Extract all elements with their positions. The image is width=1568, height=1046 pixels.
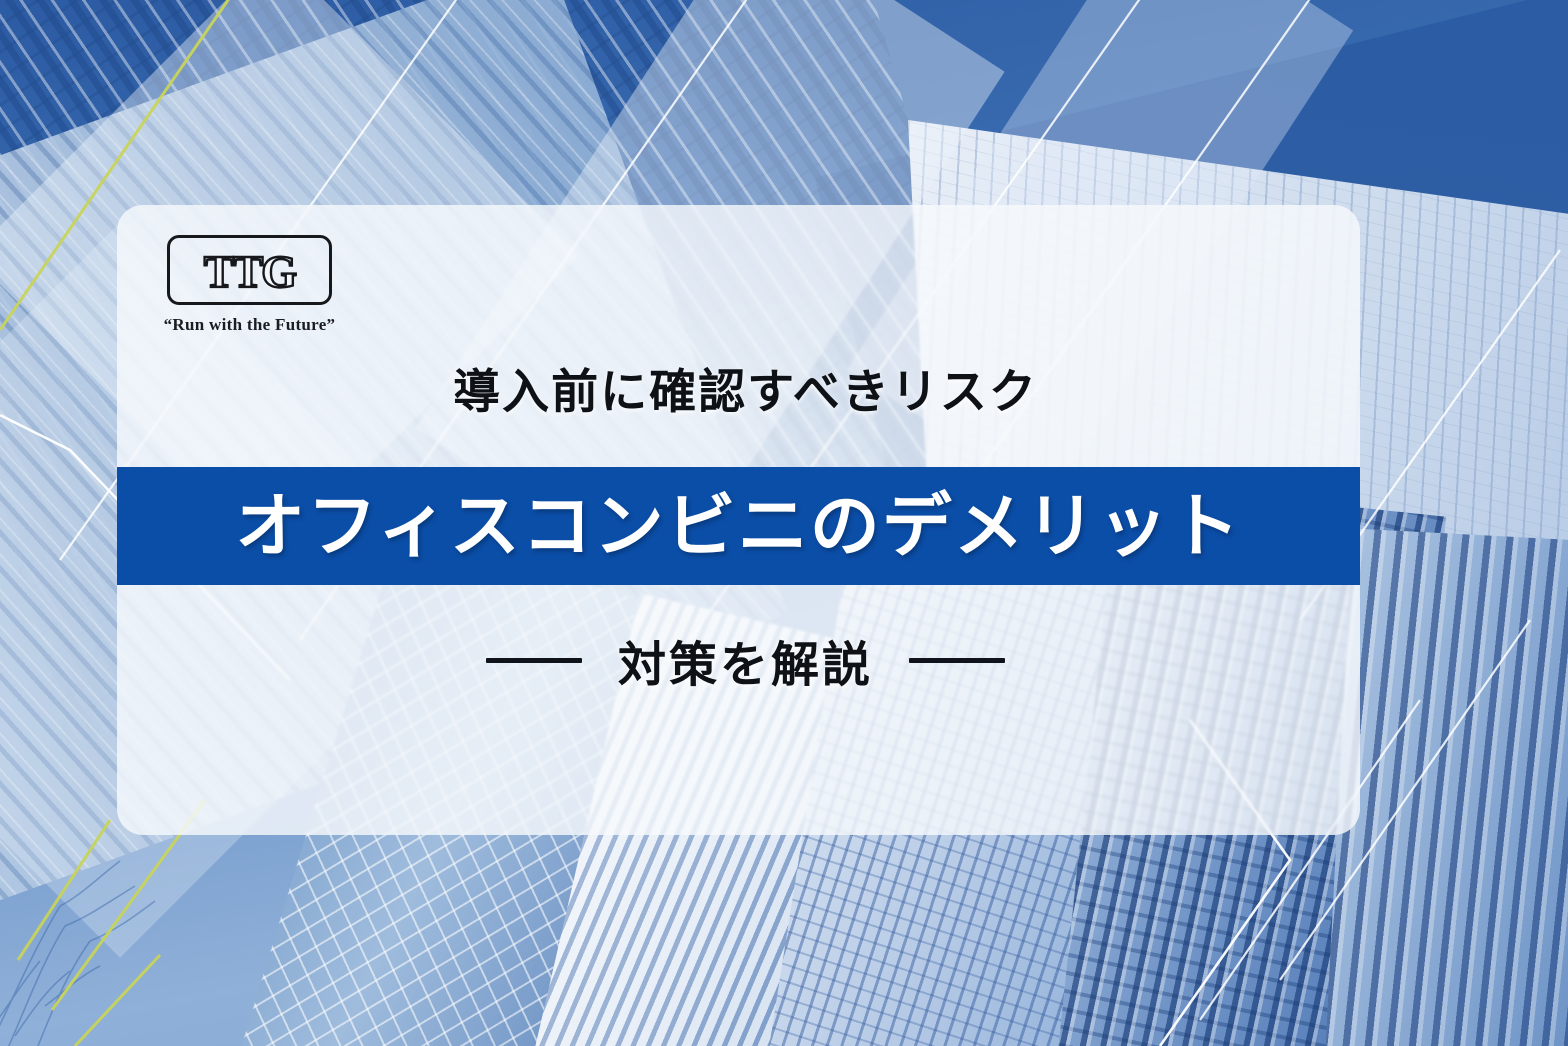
rule-left-icon [486, 658, 582, 663]
footer-row: 対策を解説 [117, 625, 1360, 695]
logo-tagline: “Run with the Future” [162, 315, 337, 335]
poster-canvas: TTG “Run with the Future” 導入前に確認すべきリスク オ… [0, 0, 1568, 1046]
content-card: TTG “Run with the Future” 導入前に確認すべきリスク オ… [117, 205, 1360, 835]
logo-outline-box: TTG [167, 235, 332, 305]
footer-text: 対策を解説 [618, 625, 873, 695]
logo-text: TTG [204, 249, 295, 295]
card-subtitle: 導入前に確認すべきリスク [117, 353, 1360, 422]
rule-right-icon [909, 658, 1005, 663]
title-banner: オフィスコンビニのデメリット [117, 467, 1360, 585]
brand-logo[interactable]: TTG “Run with the Future” [162, 235, 392, 335]
main-title: オフィスコンビニのデメリット [235, 491, 1242, 561]
